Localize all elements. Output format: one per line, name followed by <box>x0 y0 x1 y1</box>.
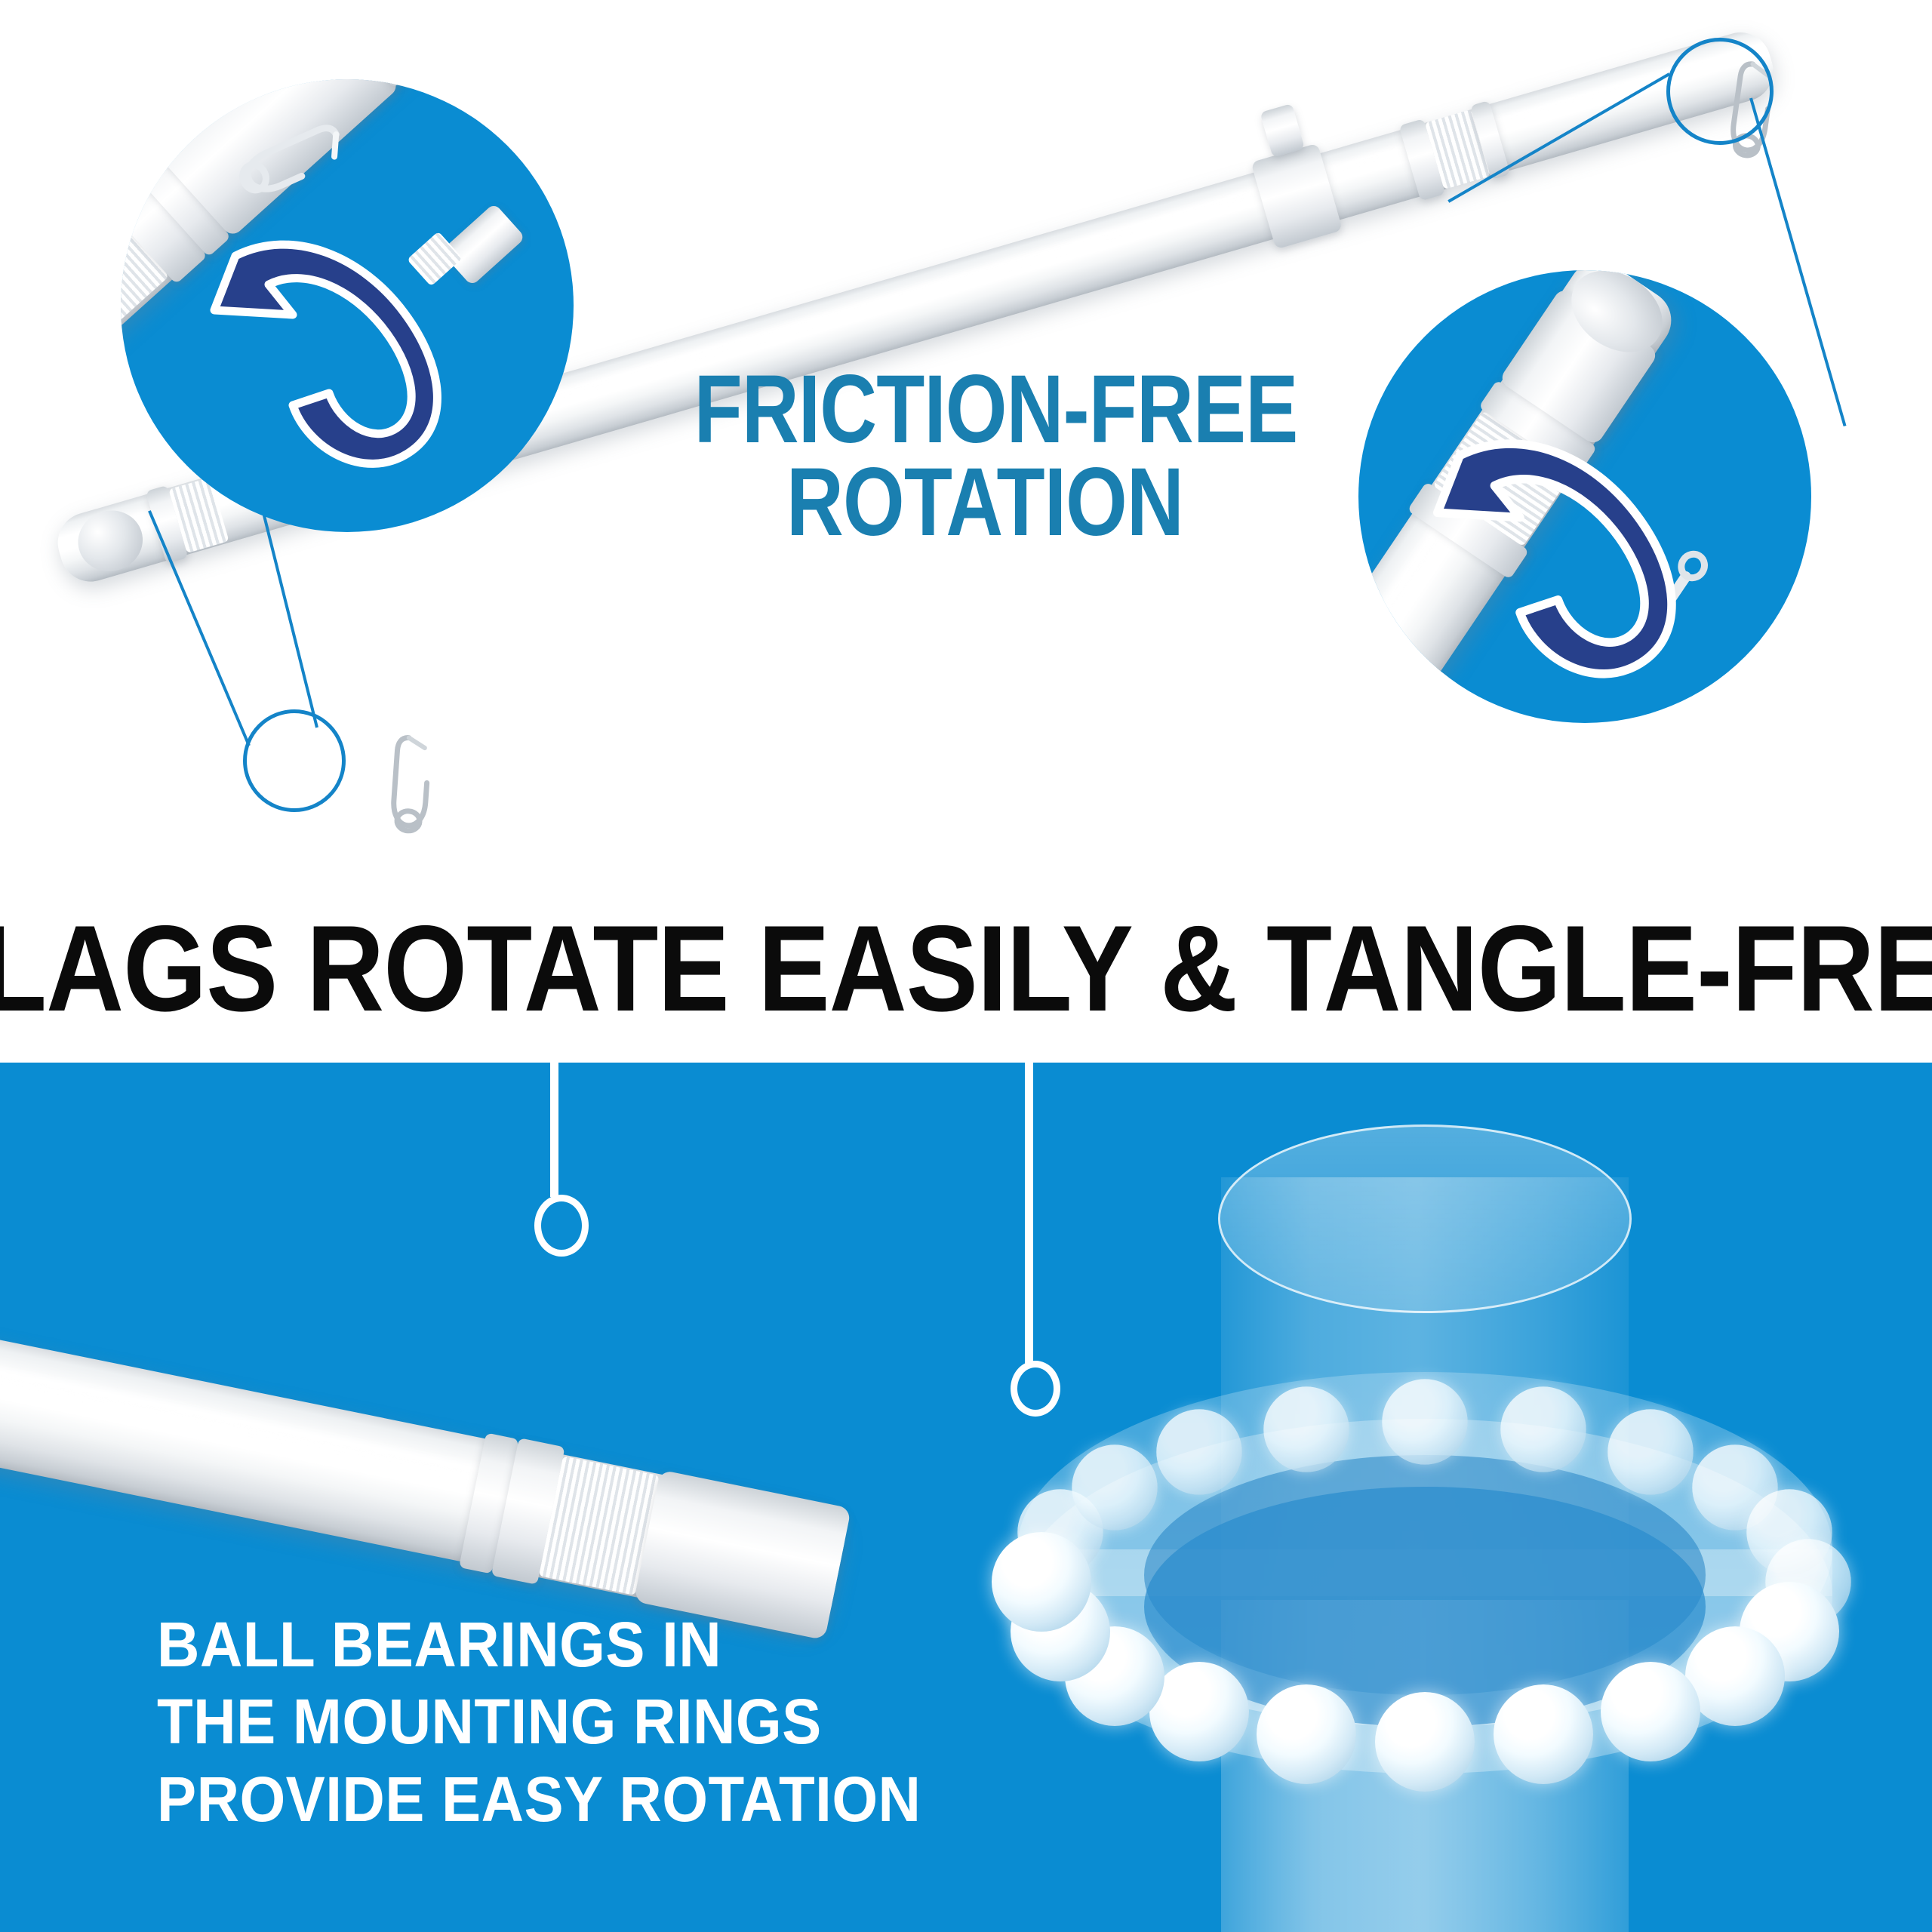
headline-band: FLAGS ROTATE EASILY & TANGLE-FREE <box>0 875 1932 1063</box>
ball-bearing-icon <box>1494 1684 1593 1784</box>
ball-bearing-icon <box>1072 1445 1158 1531</box>
rotation-arrow-icon <box>202 200 504 502</box>
page-title: FLAGS ROTATE EASILY & TANGLE-FREE <box>0 899 1932 1039</box>
thumb-screw <box>1260 103 1305 158</box>
callout-line-vertical-left <box>550 1063 558 1197</box>
ball-bearing-icon <box>992 1532 1091 1632</box>
caption-line1: BALL BEARINGS IN <box>157 1606 921 1683</box>
ball-bearing-icon <box>1607 1410 1694 1496</box>
magnifier-circle-icon <box>121 79 574 532</box>
feature-headline-line1: FRICTION-FREE <box>694 364 1276 457</box>
flagpole-detail <box>0 1291 851 1636</box>
flag-snap-clip-icon <box>386 734 435 836</box>
feature-headline-line2: ROTATION <box>694 457 1276 549</box>
ball-bearing-icon <box>1500 1387 1586 1473</box>
magnifier-circle-icon <box>1358 270 1811 723</box>
product-infographic: FRICTION-FREE ROTATION FLAGS ROTATE EASI… <box>0 0 1932 1932</box>
ball-bearing-icon <box>1685 1626 1785 1726</box>
ball-bearing-icon <box>1263 1387 1349 1473</box>
ball-bearing-icon <box>1382 1379 1468 1465</box>
rotation-arrow-icon <box>1425 397 1742 714</box>
caption-line3: PROVIDE EASY ROTATION <box>157 1761 921 1838</box>
callout-target-ring-icon <box>534 1195 589 1257</box>
callout-target-ring-icon <box>243 709 346 812</box>
feature-headline: FRICTION-FREE ROTATION <box>694 364 1276 549</box>
bottom-feature-panel: BALL BEARINGS IN THE MOUNTING RINGS PROV… <box>0 1063 1932 1932</box>
ball-bearing-icon <box>1601 1662 1700 1761</box>
ball-bearing-icon <box>1257 1684 1356 1784</box>
ball-bearing-icon <box>1149 1662 1249 1761</box>
caption-line2: THE MOUNTING RINGS <box>157 1683 921 1760</box>
ball-bearing-icon <box>1375 1692 1475 1792</box>
mounting-ring-cylinder-icon <box>995 1132 1885 1932</box>
cylinder-top-rim <box>1218 1124 1632 1313</box>
bottom-caption: BALL BEARINGS IN THE MOUNTING RINGS PROV… <box>157 1606 979 1838</box>
